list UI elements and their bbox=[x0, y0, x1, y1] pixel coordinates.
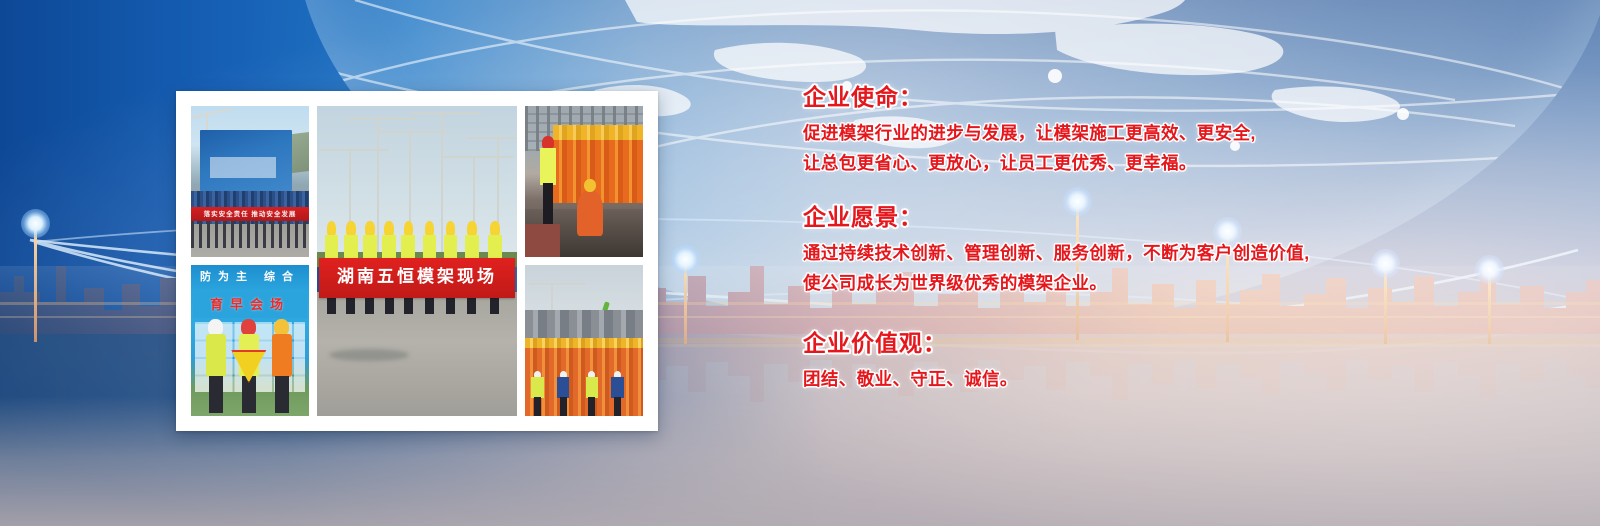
photo-collage[interactable]: 落实安全责任 推动安全发展 bbox=[176, 91, 658, 431]
values-heading: 企业价值观： bbox=[803, 328, 1423, 359]
photo-worker-assembly[interactable] bbox=[525, 265, 643, 416]
photo-caption-board-red: 育早会场 bbox=[193, 294, 306, 313]
culture-text-column: 企业使命： 促进模架行业的进步与发展，让模架施工更高效、更安全, 让总包更省心、… bbox=[803, 82, 1423, 394]
values-line-1: 团结、敬业、守正、诚信。 bbox=[803, 364, 1423, 394]
vision-line-1: 通过持续技术创新、管理创新、服务创新，不断为客户创造价值, bbox=[803, 238, 1423, 268]
mission-heading: 企业使命： bbox=[803, 82, 1423, 113]
vision-block: 企业愿景： 通过持续技术创新、管理创新、服务创新，不断为客户创造价值, 使公司成… bbox=[803, 202, 1423, 298]
photo-site-group-banner[interactable]: 湖南五恒模架现场 bbox=[317, 106, 517, 416]
photo-caption-board-top: 防为主 综合 bbox=[191, 268, 309, 284]
photo-safety-demonstration[interactable] bbox=[525, 106, 643, 257]
photo-safety-pledge-rally[interactable]: 落实安全责任 推动安全发展 bbox=[191, 106, 309, 257]
vision-heading: 企业愿景： bbox=[803, 202, 1423, 233]
mission-block: 企业使命： 促进模架行业的进步与发展，让模架施工更高效、更安全, 让总包更省心、… bbox=[803, 82, 1423, 178]
photo-caption: 落实安全责任 推动安全发展 bbox=[191, 208, 309, 218]
banner-root: 落实安全责任 推动安全发展 bbox=[0, 0, 1600, 526]
photo-caption-site-banner: 湖南五恒模架现场 bbox=[319, 262, 515, 287]
values-block: 企业价值观： 团结、敬业、守正、诚信。 bbox=[803, 328, 1423, 394]
photo-safety-meeting-board[interactable]: 防为主 综合 育早会场 bbox=[191, 265, 309, 416]
vision-line-2: 使公司成长为世界级优秀的模架企业。 bbox=[803, 268, 1423, 298]
mission-line-2: 让总包更省心、更放心，让员工更优秀、更幸福。 bbox=[803, 148, 1423, 178]
mission-line-1: 促进模架行业的进步与发展，让模架施工更高效、更安全, bbox=[803, 118, 1423, 148]
